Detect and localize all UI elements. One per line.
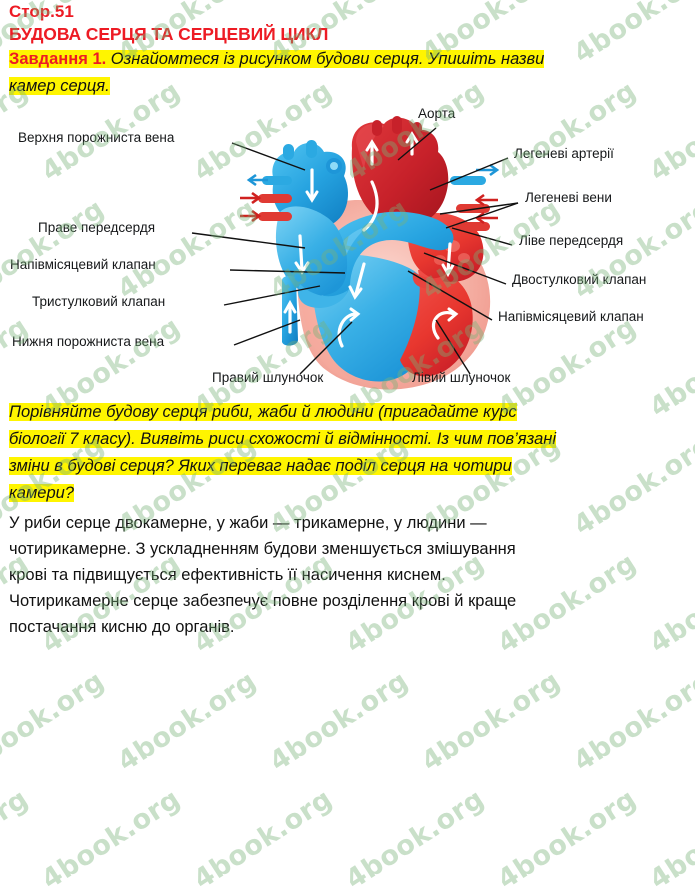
answer-line: Чотирикамерне серце забезпечує повне роз… <box>0 588 695 614</box>
heart-diagram: Аорта Верхня порожниста вена Праве перед… <box>0 108 695 400</box>
watermark-text: 4book.org <box>112 665 262 777</box>
label-left-atrium: Ліве передсердя <box>519 233 623 248</box>
question-line-text: біології 7 класу). Виявіть риси схожості… <box>9 430 556 448</box>
task-label: Завдання 1. <box>9 50 106 68</box>
watermark-text: 4book.org <box>492 783 642 895</box>
label-right-ventricle: Правий шлуночок <box>212 370 323 385</box>
watermark-text: 4book.org <box>644 783 695 895</box>
label-tricuspid-valve: Тристулковий клапан <box>32 294 165 309</box>
label-superior-vena-cava: Верхня порожниста вена <box>18 130 174 145</box>
watermark-text: 4book.org <box>264 665 414 777</box>
watermark-text: 4book.org <box>568 665 695 777</box>
task-line-1: Завдання 1. Ознайомтеся із рисунком будо… <box>0 46 695 73</box>
watermark-text: 4book.org <box>416 665 566 777</box>
label-left-ventricle: Лівий шлуночок <box>412 370 510 385</box>
left-vessel-stubs <box>240 175 292 221</box>
label-pulmonary-arteries: Легеневі артерії <box>514 146 614 161</box>
label-right-atrium: Праве передсердя <box>38 220 155 235</box>
watermark-text: 4book.org <box>188 783 338 895</box>
answer-paragraph: У риби серце двокамерне, у жаби — трикам… <box>0 510 695 640</box>
watermark-text: 4book.org <box>0 665 110 777</box>
task-instruction-part2: камер серця. <box>9 77 110 95</box>
answer-line: У риби серце двокамерне, у жаби — трикам… <box>0 510 695 536</box>
page-header: Стор.51 БУДОВА СЕРЦЯ ТА СЕРЦЕВИЙ ЦИКЛ За… <box>0 0 695 100</box>
answer-line: чотирикамерне. З ускладненням будови зме… <box>0 536 695 562</box>
watermark-text: 4book.org <box>0 783 34 895</box>
question-line: зміни в будові серця? Яких переваг надає… <box>0 453 695 480</box>
comparison-question: Порівняйте будову серця риби, жаби й люд… <box>0 399 695 507</box>
page-title: БУДОВА СЕРЦЯ ТА СЕРЦЕВИЙ ЦИКЛ <box>0 23 695 46</box>
watermark-text: 4book.org <box>340 783 490 895</box>
question-line: біології 7 класу). Виявіть риси схожості… <box>0 426 695 453</box>
watermark-text: 4book.org <box>36 783 186 895</box>
label-bicuspid-valve: Двостулковий клапан <box>512 272 646 287</box>
task-instruction-part1: Ознайомтеся із рисунком будови серця. Уп… <box>106 50 544 68</box>
question-line-text: зміни в будові серця? Яких переваг надає… <box>9 457 512 475</box>
label-semilunar-valve-right: Напівмісяцевий клапан <box>10 257 156 272</box>
page-reference: Стор.51 <box>0 0 695 23</box>
question-line-text: камери? <box>9 484 74 502</box>
task-line-2: камер серця. <box>0 73 695 100</box>
answer-line: крові та підвищується ефективність її на… <box>0 562 695 588</box>
label-pulmonary-veins: Легеневі вени <box>525 190 612 205</box>
label-inferior-vena-cava: Нижня порожниста вена <box>12 334 164 349</box>
answer-line: постачання кисню до органів. <box>0 614 695 640</box>
question-line: камери? <box>0 480 695 507</box>
label-aorta: Аорта <box>418 106 455 121</box>
question-line: Порівняйте будову серця риби, жаби й люд… <box>0 399 695 426</box>
label-semilunar-valve-left: Напівмісяцевий клапан <box>498 309 644 324</box>
question-line-text: Порівняйте будову серця риби, жаби й люд… <box>9 403 517 421</box>
